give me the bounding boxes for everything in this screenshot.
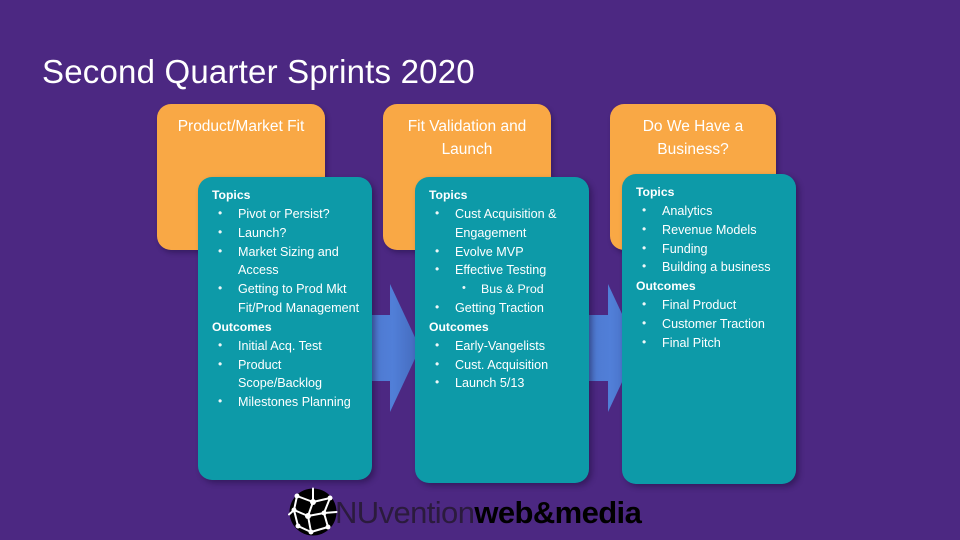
list-item: Getting to Prod Mkt Fit/Prod Management xyxy=(212,280,364,318)
logo-wordmark: NUventionweb&media xyxy=(335,497,641,528)
list-item: Product Scope/Backlog xyxy=(212,356,364,394)
phase-1-topics-label: Topics xyxy=(212,186,364,205)
phase-3-topics-list: Analytics Revenue Models Funding Buildin… xyxy=(636,202,788,277)
list-item: Effective Testing xyxy=(429,261,581,280)
nuvention-logo: NUventionweb&media xyxy=(288,487,641,537)
phase-3-outcomes-list: Final Product Customer Traction Final Pi… xyxy=(636,296,788,352)
phase-2-header-label: Fit Validation and Launch xyxy=(383,104,551,161)
list-item: Cust Acquisition & Engagement xyxy=(429,205,581,243)
phase-1-outcomes-list: Initial Acq. Test Product Scope/Backlog … xyxy=(212,337,364,412)
phase-3-topics-label: Topics xyxy=(636,183,788,202)
phase-3-body: Topics Analytics Revenue Models Funding … xyxy=(622,174,796,484)
phase-2-outcomes-list: Early-Vangelists Cust. Acquisition Launc… xyxy=(429,337,581,393)
list-item: Analytics xyxy=(636,202,788,221)
phase-3-header-label: Do We Have a Business? xyxy=(610,104,776,161)
list-item: Milestones Planning xyxy=(212,393,364,412)
phase-3-outcomes-label: Outcomes xyxy=(636,277,788,296)
list-item: Launch? xyxy=(212,224,364,243)
phase-1-outcomes-label: Outcomes xyxy=(212,318,364,337)
list-item: Final Product xyxy=(636,296,788,315)
network-sphere-icon xyxy=(288,487,338,537)
list-item: Final Pitch xyxy=(636,334,788,353)
list-item: Funding xyxy=(636,240,788,259)
phase-1-topics-list: Pivot or Persist? Launch? Market Sizing … xyxy=(212,205,364,318)
list-item: Market Sizing and Access xyxy=(212,243,364,281)
list-item: Cust. Acquisition xyxy=(429,356,581,375)
phase-1-body: Topics Pivot or Persist? Launch? Market … xyxy=(198,177,372,480)
phase-2-topics-list: Cust Acquisition & Engagement Evolve MVP… xyxy=(429,205,581,318)
list-item: Building a business xyxy=(636,258,788,277)
list-item: Revenue Models xyxy=(636,221,788,240)
list-item: Customer Traction xyxy=(636,315,788,334)
page-title: Second Quarter Sprints 2020 xyxy=(42,52,475,92)
list-item: Initial Acq. Test xyxy=(212,337,364,356)
phase-2-outcomes-label: Outcomes xyxy=(429,318,581,337)
phase-2-topics-label: Topics xyxy=(429,186,581,205)
list-item: Getting Traction xyxy=(429,299,581,318)
logo-text-bold: web&media xyxy=(474,495,641,530)
list-item-sub: Bus & Prod xyxy=(429,280,581,299)
list-item: Early-Vangelists xyxy=(429,337,581,356)
list-item: Launch 5/13 xyxy=(429,374,581,393)
list-item: Evolve MVP xyxy=(429,243,581,262)
list-item: Pivot or Persist? xyxy=(212,205,364,224)
logo-text-light: NUvention xyxy=(335,495,474,530)
phase-1-header-label: Product/Market Fit xyxy=(157,104,325,138)
slide-canvas: Second Quarter Sprints 2020 Product/Mark… xyxy=(0,0,960,540)
phase-2-body: Topics Cust Acquisition & Engagement Evo… xyxy=(415,177,589,483)
